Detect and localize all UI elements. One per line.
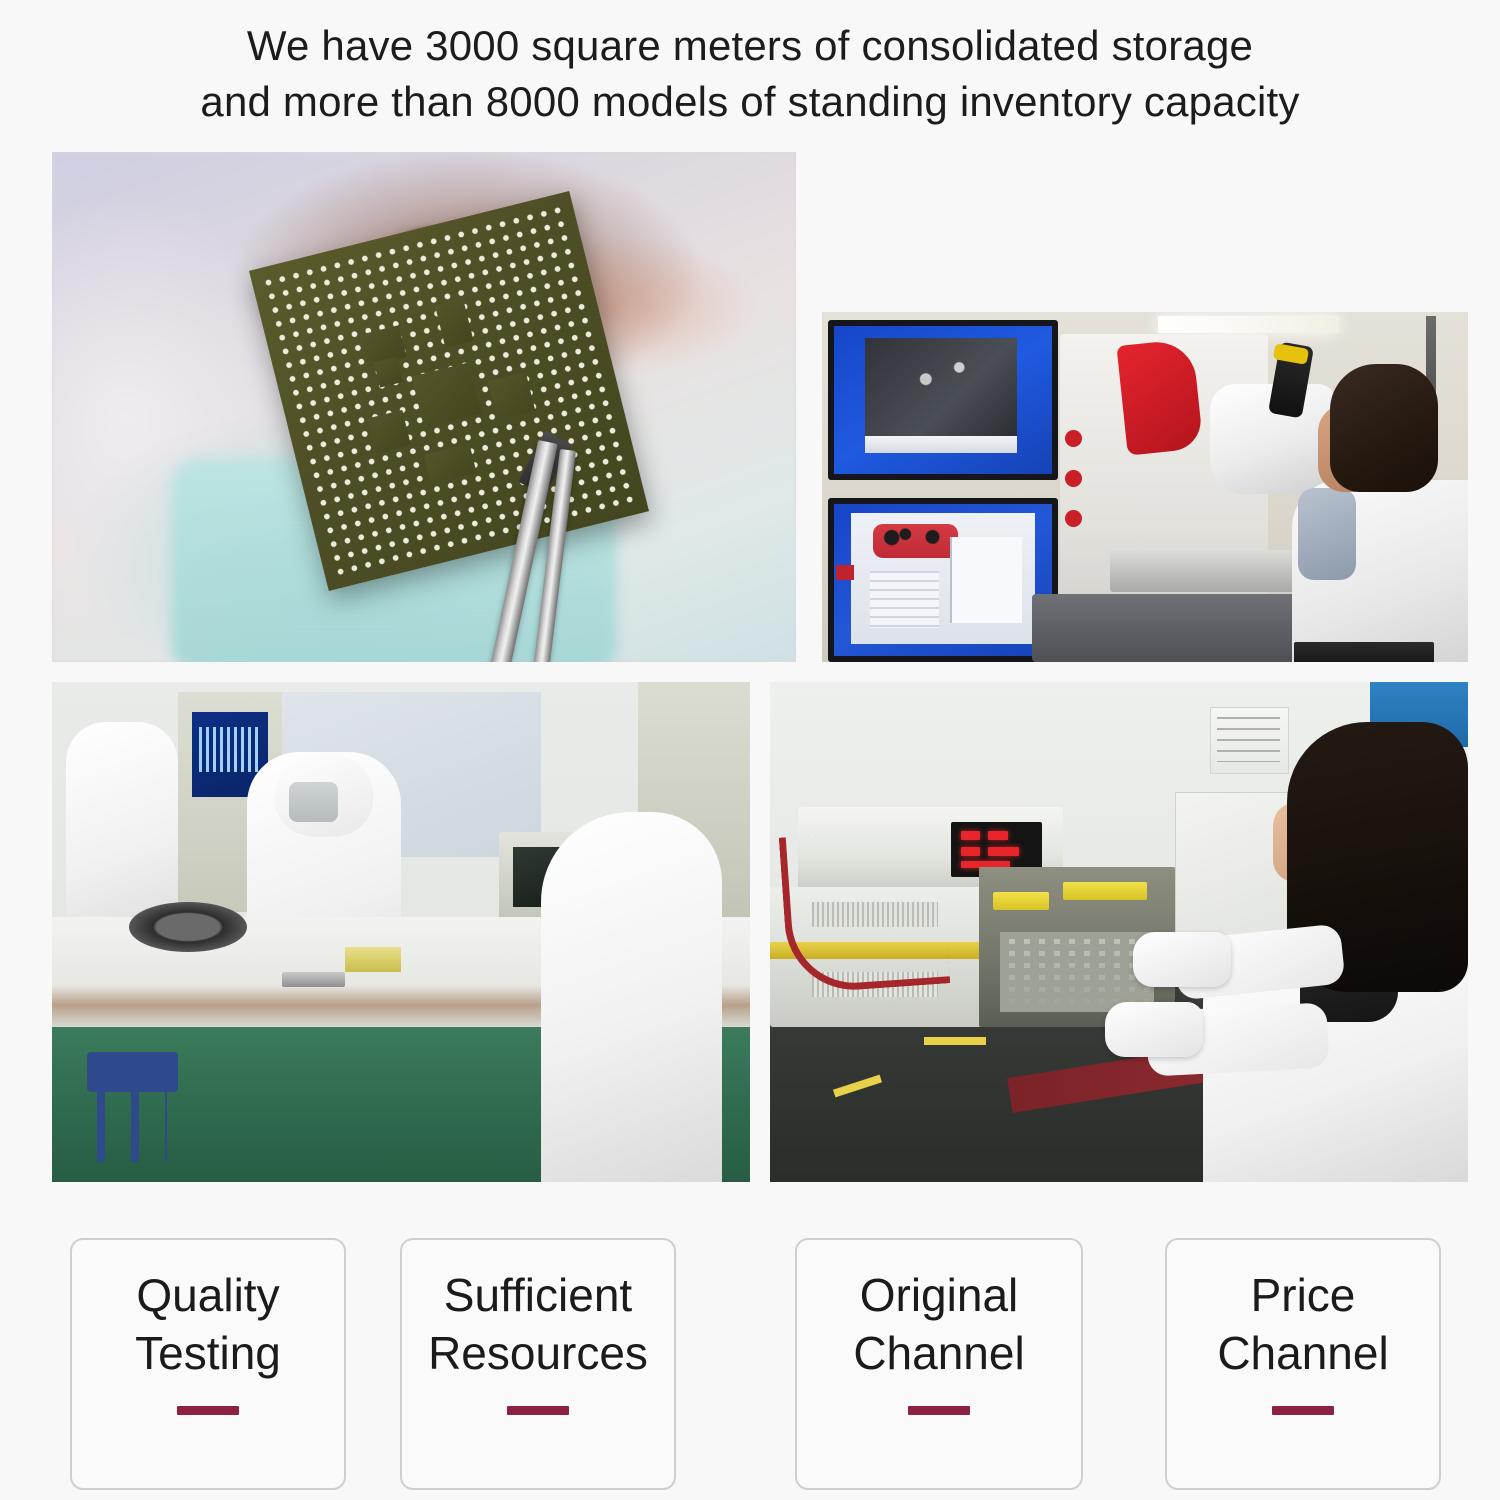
plot-panel xyxy=(950,537,1022,623)
red-knob xyxy=(1065,510,1082,527)
monitor-bottom xyxy=(828,498,1058,662)
promo-banner: We have 3000 square meters of consolidat… xyxy=(0,0,1500,1500)
led-digit xyxy=(961,847,981,856)
red-knob xyxy=(1065,430,1082,447)
led-digit xyxy=(988,847,1019,856)
cleanroom-worker xyxy=(541,812,722,1182)
red-tab xyxy=(836,565,853,580)
photo-chip-inspection xyxy=(52,152,796,662)
photo-test-bench xyxy=(770,682,1468,1182)
component-tray xyxy=(345,947,401,972)
stool-legs xyxy=(97,1092,167,1162)
toolbar-strip xyxy=(865,436,1018,454)
instrument-display xyxy=(1063,882,1147,900)
worker-face-mask xyxy=(289,782,338,822)
accent-underline xyxy=(177,1406,239,1415)
data-table xyxy=(870,571,940,629)
inspection-image xyxy=(865,338,1018,436)
feature-card-quality-testing[interactable]: Quality Testing xyxy=(70,1238,346,1490)
feature-card-title-line-2: Resources xyxy=(428,1327,648,1379)
specimen-stage xyxy=(1110,550,1296,592)
monitor-top xyxy=(828,320,1058,480)
floor-tape-marker xyxy=(924,1037,987,1045)
feature-card-title-line-1: Price xyxy=(1251,1269,1356,1321)
feature-card-title-line-1: Quality xyxy=(136,1269,279,1321)
ceiling-light xyxy=(1158,316,1339,334)
accent-underline xyxy=(908,1406,970,1415)
feature-card-original-channel[interactable]: Original Channel xyxy=(795,1238,1083,1490)
operator-glove xyxy=(1105,1002,1203,1057)
photo-cleanroom-assembly xyxy=(52,682,750,1182)
feature-card-title: Sufficient Resources xyxy=(428,1266,648,1382)
instrument-keypad xyxy=(1000,932,1154,1012)
page-title-line-2: and more than 8000 models of standing in… xyxy=(0,74,1500,130)
metal-part xyxy=(282,972,345,987)
accent-underline xyxy=(1272,1406,1334,1415)
operator-glove xyxy=(1133,932,1231,987)
monitor-bottom-screen xyxy=(834,504,1052,656)
feature-card-title: Price Channel xyxy=(1217,1266,1388,1382)
feature-card-price-channel[interactable]: Price Channel xyxy=(1165,1238,1441,1490)
component-reel xyxy=(129,902,248,952)
feature-card-title-line-2: Testing xyxy=(135,1327,281,1379)
technician-hair xyxy=(1330,364,1438,492)
feature-card-title: Original Channel xyxy=(853,1266,1024,1382)
instrument-display xyxy=(993,892,1049,910)
analysis-app-window xyxy=(851,513,1034,644)
led-digit xyxy=(988,831,1008,840)
sample-diagram xyxy=(873,524,957,558)
stool-seat xyxy=(87,1052,178,1092)
feature-card-sufficient-resources[interactable]: Sufficient Resources xyxy=(400,1238,676,1490)
feature-card-title-line-1: Original xyxy=(860,1269,1019,1321)
feature-card-title-line-1: Sufficient xyxy=(444,1269,632,1321)
accent-underline xyxy=(507,1406,569,1415)
red-knob xyxy=(1065,470,1082,487)
monitor-top-screen xyxy=(834,326,1052,474)
feature-card-title-line-2: Channel xyxy=(1217,1327,1388,1379)
red-test-cable xyxy=(779,827,950,995)
feature-card-title: Quality Testing xyxy=(135,1266,281,1382)
photo-microscope-station xyxy=(822,312,1468,662)
feature-card-title-line-2: Channel xyxy=(853,1327,1024,1379)
machine-base xyxy=(1032,594,1322,662)
rack-display-waveform xyxy=(199,727,262,772)
page-title: We have 3000 square meters of consolidat… xyxy=(0,18,1500,130)
technician-shirt xyxy=(1298,488,1356,580)
page-title-line-1: We have 3000 square meters of consolidat… xyxy=(0,18,1500,74)
keyboard xyxy=(1294,642,1434,662)
led-digit xyxy=(961,831,981,840)
wall-sign-text xyxy=(1217,717,1280,762)
